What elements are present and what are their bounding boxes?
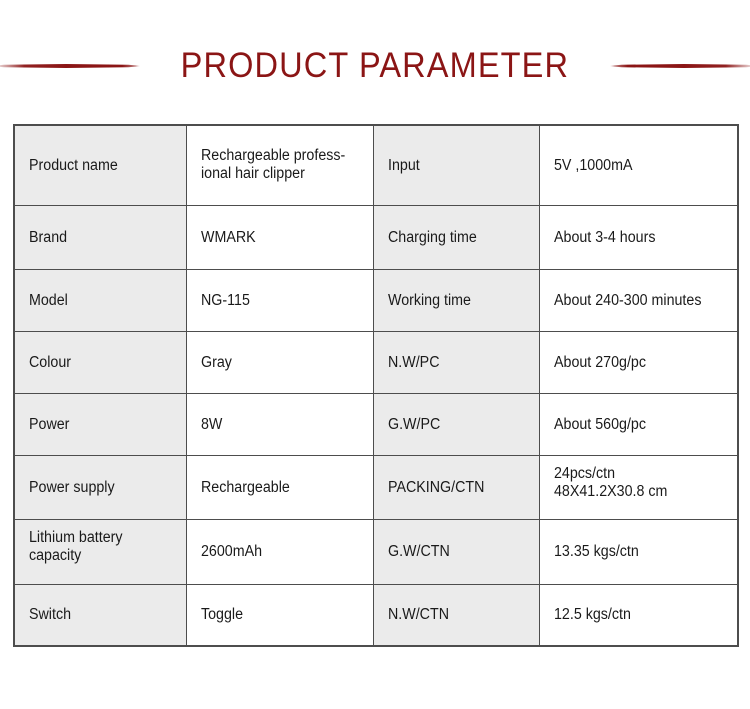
spec-value-text: 2600mAh [201,542,359,561]
spec-value-text: About 270g/pc [554,353,723,372]
spec-label-text: Colour [29,353,171,372]
spec-label-text: Switch [29,605,171,624]
spec-value-model: NG-115 [186,269,373,331]
table-row: Brand WMARK Charging time About 3-4 hour… [14,205,738,269]
spec-label-text: Product name [29,156,171,175]
spec-label-text: N.W/CTN [388,605,525,624]
spec-value-lithium-battery-capacity: 2600mAh [186,519,373,584]
table-row: Power supply Rechargeable PACKING/CTN 24… [14,455,738,519]
spec-label-text: Lithium battery capacity [29,529,171,565]
spec-label-power-supply: Power supply [14,455,186,519]
spec-value-text: 13.35 kgs/ctn [554,542,723,561]
spec-value-power: 8W [186,393,373,455]
spec-label-brand: Brand [14,205,186,269]
spec-value-gw-ctn: 13.35 kgs/ctn [539,519,738,584]
spec-label-text: Power [29,415,171,434]
spec-value-brand: WMARK [186,205,373,269]
spec-value-text: 8W [201,415,359,434]
spec-label-text: Input [388,156,525,175]
spec-value-switch: Toggle [186,584,373,646]
spec-value-packing-ctn: 24pcs/ctn 48X41.2X30.8 cm [539,455,738,519]
spec-value-charging-time: About 3-4 hours [539,205,738,269]
spec-value-text: 24pcs/ctn 48X41.2X30.8 cm [554,465,723,501]
spec-value-gw-pc: About 560g/pc [539,393,738,455]
decorative-rule-left [0,64,140,68]
table-row: Colour Gray N.W/PC About 270g/pc [14,331,738,393]
spec-value-input: 5V ,1000mA [539,125,738,205]
spec-value-colour: Gray [186,331,373,393]
spec-label-product-name: Product name [14,125,186,205]
spec-value-nw-ctn: 12.5 kgs/ctn [539,584,738,646]
spec-label-gw-ctn: G.W/CTN [373,519,539,584]
spec-value-nw-pc: About 270g/pc [539,331,738,393]
spec-label-working-time: Working time [373,269,539,331]
spec-value-text: About 560g/pc [554,415,723,434]
spec-label-text: Brand [29,228,171,247]
table-row: Model NG-115 Working time About 240-300 … [14,269,738,331]
table-row: Power 8W G.W/PC About 560g/pc [14,393,738,455]
spec-label-line2: capacity [29,547,171,565]
spec-label-input: Input [373,125,539,205]
spec-label-line1: Lithium battery [29,529,171,547]
table-row: Lithium battery capacity 2600mAh G.W/CTN… [14,519,738,584]
spec-value-text: WMARK [201,228,359,247]
spec-label-nw-ctn: N.W/CTN [373,584,539,646]
spec-label-model: Model [14,269,186,331]
spec-value-line1: 24pcs/ctn [554,465,723,483]
spec-label-text: Charging time [388,228,525,247]
spec-value-text: About 3-4 hours [554,228,723,247]
spec-value-text: 5V ,1000mA [554,156,723,175]
product-parameter-table: Product name Rechargeable profess- ional… [13,124,739,647]
spec-label-text: PACKING/CTN [388,478,525,497]
spec-label-gw-pc: G.W/PC [373,393,539,455]
spec-value-text: About 240-300 minutes [554,291,723,310]
spec-label-colour: Colour [14,331,186,393]
spec-value-text: Toggle [201,605,359,624]
spec-value-line2: 48X41.2X30.8 cm [554,483,723,501]
table-row: Switch Toggle N.W/CTN 12.5 kgs/ctn [14,584,738,646]
spec-value-product-name: Rechargeable profess- ional hair clipper [186,125,373,205]
page-title: PRODUCT PARAMETER [181,47,570,85]
spec-label-text: Model [29,291,171,310]
spec-value-text: 12.5 kgs/ctn [554,605,723,624]
spec-label-text: Working time [388,291,525,310]
spec-value-power-supply: Rechargeable [186,455,373,519]
spec-value-line2: ional hair clipper [201,165,359,183]
spec-label-charging-time: Charging time [373,205,539,269]
spec-value-text: NG-115 [201,291,359,310]
spec-label-text: N.W/PC [388,353,525,372]
spec-label-text: G.W/PC [388,415,525,434]
spec-label-switch: Switch [14,584,186,646]
spec-value-text: Gray [201,353,359,372]
decorative-rule-right [610,64,750,68]
spec-label-power: Power [14,393,186,455]
page-header: PRODUCT PARAMETER [0,40,750,92]
spec-value-line1: Rechargeable profess- [201,147,359,165]
spec-label-text: G.W/CTN [388,542,525,561]
spec-label-text: Power supply [29,478,171,497]
spec-value-text: Rechargeable [201,478,359,497]
table-row: Product name Rechargeable profess- ional… [14,125,738,205]
spec-value-working-time: About 240-300 minutes [539,269,738,331]
spec-label-packing-ctn: PACKING/CTN [373,455,539,519]
spec-label-nw-pc: N.W/PC [373,331,539,393]
spec-value-text: Rechargeable profess- ional hair clipper [201,147,359,183]
spec-label-lithium-battery-capacity: Lithium battery capacity [14,519,186,584]
